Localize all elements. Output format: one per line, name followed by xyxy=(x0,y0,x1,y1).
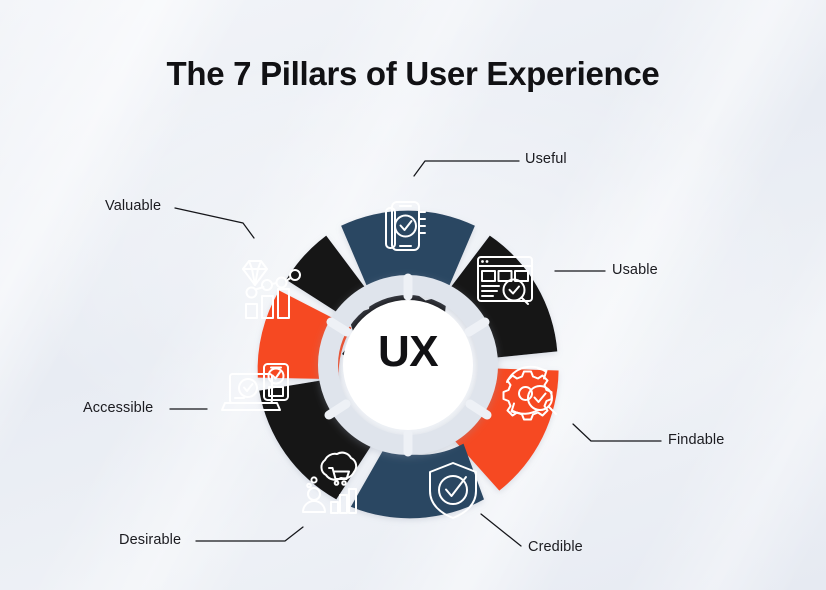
label-accessible[interactable]: Accessible xyxy=(83,400,153,416)
infographic-canvas: The 7 Pillars of User Experience xyxy=(0,0,826,590)
leader-line-findable xyxy=(573,424,661,441)
leader-line-useful xyxy=(414,161,519,176)
page-title: The 7 Pillars of User Experience xyxy=(0,55,826,93)
label-findable[interactable]: Findable xyxy=(668,432,724,448)
label-credible[interactable]: Credible xyxy=(528,539,583,555)
label-useful[interactable]: Useful xyxy=(525,151,567,167)
center-ux-label: UX xyxy=(328,327,488,377)
label-desirable[interactable]: Desirable xyxy=(119,532,181,548)
leader-line-desirable xyxy=(196,527,303,541)
leader-line-valuable xyxy=(175,208,254,238)
leader-line-credible xyxy=(481,514,521,546)
label-valuable[interactable]: Valuable xyxy=(105,198,161,214)
label-usable[interactable]: Usable xyxy=(612,262,658,278)
